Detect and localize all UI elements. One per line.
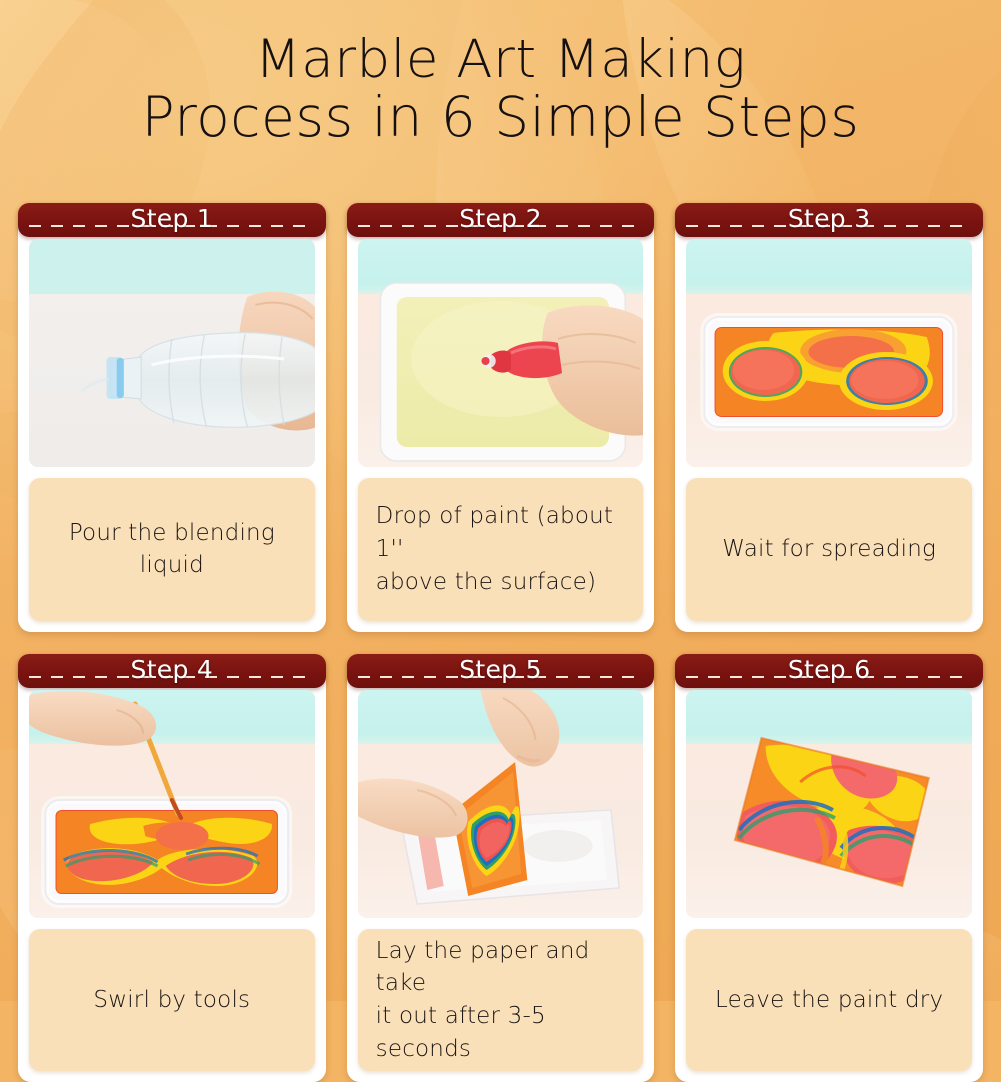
page-title: Marble Art Making Process in 6 Simple St…	[0, 32, 1001, 146]
step-photo-3	[686, 239, 972, 467]
caption-text: Leave the paint dry	[704, 984, 954, 1017]
caption-line-1: Drop of paint (about 1''	[376, 503, 613, 562]
step-caption-1: Pour the blending liquid	[29, 478, 315, 621]
step-banner-label: Step 5	[452, 657, 549, 682]
step-caption-5: Lay the paper and take it out after 3-5 …	[358, 929, 644, 1072]
step-banner-label: Step 4	[124, 657, 221, 682]
step-card-1[interactable]: Step 1	[18, 203, 326, 632]
step-photo-2	[358, 239, 644, 467]
step-card-3[interactable]: Step 3	[675, 203, 983, 632]
caption-text: Drop of paint (about 1'' above the surfa…	[376, 500, 626, 598]
step-card-4[interactable]: Step 4	[18, 654, 326, 1082]
caption-line-1: Lay the paper and take	[376, 938, 590, 997]
step-photo-5	[358, 690, 644, 918]
drop-paint-illustration	[358, 239, 644, 467]
step-banner-label: Step 1	[124, 206, 221, 231]
step-photo-6	[686, 690, 972, 918]
step-banner-label: Step 6	[781, 657, 878, 682]
caption-line-2: it out after 3-5 seconds	[376, 1003, 546, 1062]
step-caption-3: Wait for spreading	[686, 478, 972, 621]
step-banner-5: Step 5	[347, 654, 655, 688]
caption-text: Lay the paper and take it out after 3-5 …	[376, 935, 626, 1066]
step-caption-4: Swirl by tools	[29, 929, 315, 1072]
step-banner-2: Step 2	[347, 203, 655, 237]
lift-paper-illustration	[358, 690, 644, 918]
step-photo-4	[29, 690, 315, 918]
step-photo-1	[29, 239, 315, 467]
step-banner-1: Step 1	[18, 203, 326, 237]
swirl-tool-illustration	[29, 690, 315, 918]
title-line-2: Process in 6 Simple Steps	[0, 89, 1001, 146]
caption-text: Wait for spreading	[704, 533, 954, 566]
step-banner-6: Step 6	[675, 654, 983, 688]
step-banner-4: Step 4	[18, 654, 326, 688]
title-line-1: Marble Art Making	[0, 32, 1001, 87]
caption-line-2: above the surface)	[376, 569, 596, 595]
step-caption-2: Drop of paint (about 1'' above the surfa…	[358, 478, 644, 621]
caption-text: Pour the blending liquid	[47, 517, 297, 582]
step-card-5[interactable]: Step 5	[347, 654, 655, 1082]
caption-text: Swirl by tools	[47, 984, 297, 1017]
steps-grid: Step 1	[18, 203, 983, 1082]
step-banner-3: Step 3	[675, 203, 983, 237]
step-card-2[interactable]: Step 2	[347, 203, 655, 632]
step-caption-6: Leave the paint dry	[686, 929, 972, 1072]
paint-spreading-illustration	[686, 239, 972, 467]
step-card-6[interactable]: Step 6	[675, 654, 983, 1082]
step-banner-label: Step 2	[452, 206, 549, 231]
finished-artwork-illustration	[686, 690, 972, 918]
step-banner-label: Step 3	[781, 206, 878, 231]
pouring-bottle-illustration	[29, 239, 315, 467]
